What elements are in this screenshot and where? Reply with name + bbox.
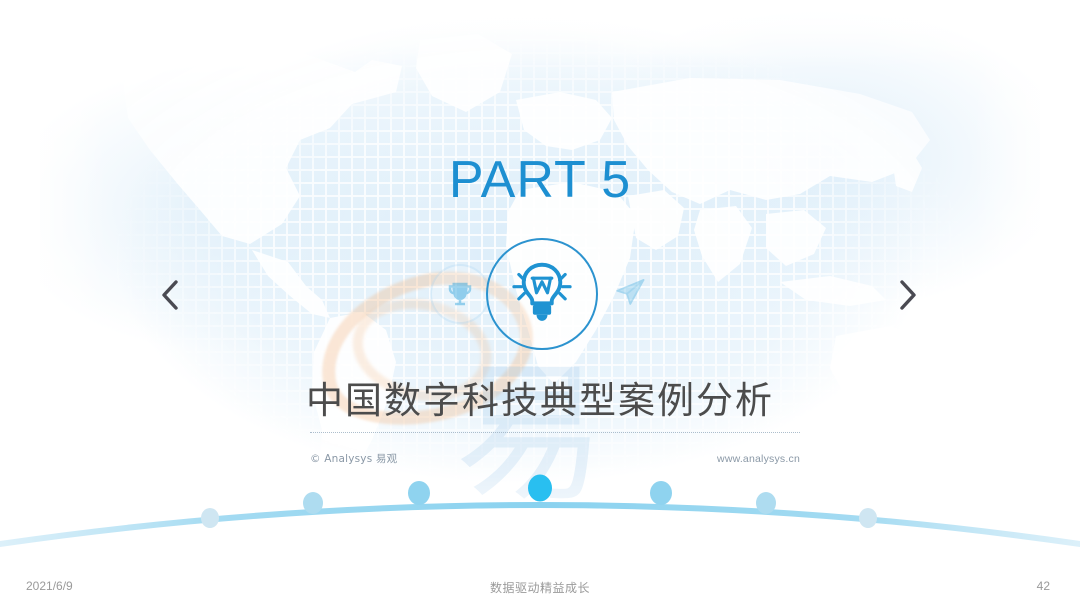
progress-dots <box>201 475 877 529</box>
footer-tagline: 数据驱动精益成长 <box>0 579 1080 596</box>
progress-dot <box>756 492 776 514</box>
slide-canvas: 易 PART 5 <box>0 0 1080 608</box>
footer-page-number: 42 <box>1037 579 1050 593</box>
chevron-right-icon[interactable] <box>886 272 930 318</box>
section-progress-arc <box>0 452 1080 562</box>
progress-dot <box>859 508 877 528</box>
part-label: PART 5 <box>0 150 1080 210</box>
progress-arc-line <box>0 505 1080 550</box>
progress-dot <box>408 481 430 505</box>
chevron-left-icon[interactable] <box>148 272 192 318</box>
progress-dot <box>650 481 672 505</box>
slide-footer: 2021/6/9 数据驱动精益成长 42 <box>0 566 1080 608</box>
paper-plane-icon <box>602 264 658 320</box>
section-icon-cluster <box>420 238 670 354</box>
trophy-icon <box>430 264 490 324</box>
progress-dot <box>201 508 219 528</box>
lightbulb-icon <box>486 238 598 350</box>
progress-dot <box>303 492 323 514</box>
divider <box>310 432 800 434</box>
page-title: 中国数字科技典型案例分析 <box>0 370 1080 424</box>
progress-dot-active <box>528 475 552 502</box>
